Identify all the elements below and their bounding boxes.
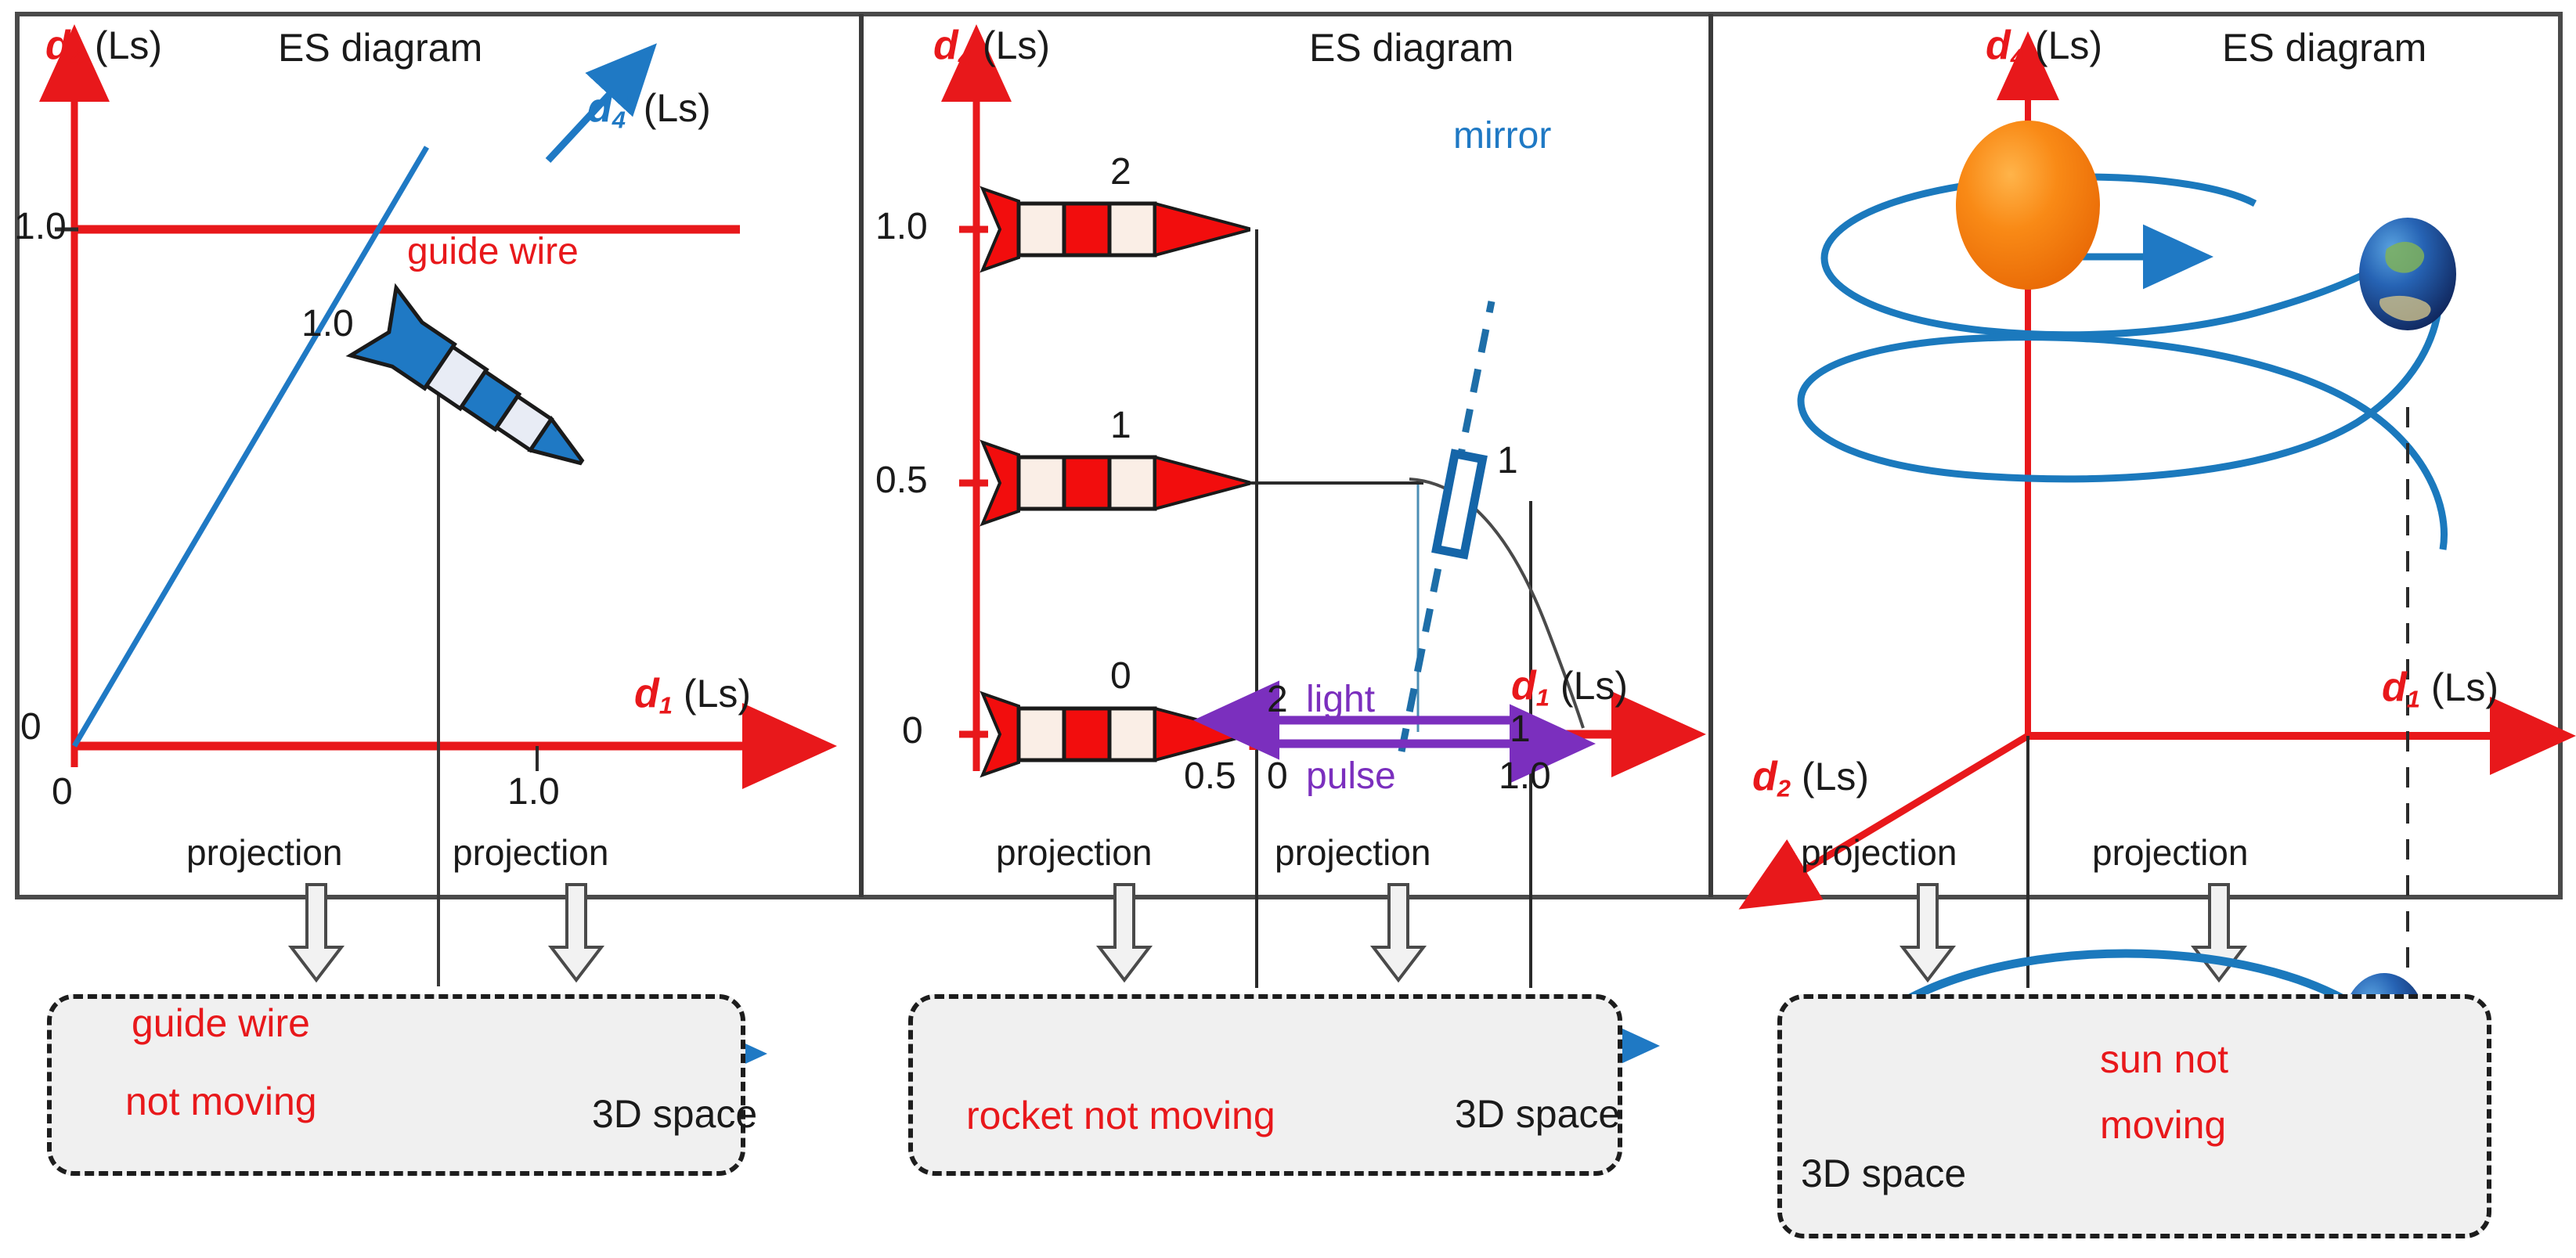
figure-root: d4 (Ls) ES diagram d4' (Ls) 1.0 guide wi… — [0, 0, 2576, 1258]
panel2-ytick-1: 1.0 — [875, 208, 928, 246]
panel3-y-axis-label: d4 (Ls) — [1986, 25, 2102, 70]
panel2-pulse-label: pulse — [1306, 758, 1396, 795]
panel1-guide-wire-label: guide wire — [407, 233, 579, 271]
panel2-pulse-count: 0 — [1267, 758, 1288, 795]
callout3-line2: moving — [2100, 1105, 2226, 1144]
panel2-x-axis-label: d1 (Ls) — [1511, 665, 1628, 710]
panel2-rocket-count-1: 1 — [1110, 407, 1131, 445]
panel3-z-axis-label: d2 (Ls) — [1752, 756, 1869, 801]
panel2-title: ES diagram — [1309, 28, 1513, 67]
panel2-rocket-count-0: 0 — [1110, 658, 1131, 695]
panel1-ytick-0: 0 — [20, 708, 41, 746]
panel1-rocket-tick-label: 1.0 — [301, 305, 354, 343]
panel2-light-label: light — [1306, 681, 1375, 719]
callout2-space-label: 3D space — [1455, 1094, 1620, 1134]
panel2-projection-right: projection — [1275, 834, 1431, 871]
panel1-xtick-1: 1.0 — [507, 773, 560, 811]
panel2-mirror-label: mirror — [1453, 117, 1551, 155]
rocket-2 — [983, 189, 1249, 270]
panel1-projection-left: projection — [186, 834, 342, 871]
panel2-ytick-0: 0 — [902, 712, 923, 750]
callout3-space-label: 3D space — [1801, 1154, 1966, 1193]
callout1-line2: not moving — [125, 1082, 317, 1121]
panel2-ytick-half: 0.5 — [875, 462, 928, 499]
panel2-xtick-half: 0.5 — [1184, 758, 1236, 795]
panel1-y-axis-label: d4 (Ls) — [45, 25, 162, 70]
panel2-light-count: 2 — [1267, 681, 1288, 719]
panel3-title: ES diagram — [2222, 28, 2426, 67]
panel2-projection-left: projection — [996, 834, 1152, 871]
panel3-projection-right: projection — [2092, 834, 2248, 871]
panel1-prime-axis-label: d4' (Ls) — [587, 88, 711, 132]
callout2-line1: rocket not moving — [966, 1096, 1275, 1135]
panel1-ytick-1: 1.0 — [14, 208, 67, 246]
panel1-projection-right: projection — [453, 834, 608, 871]
panel2-mirror-count: 1 — [1497, 442, 1518, 480]
panel3-x-axis-label: d1 (Ls) — [2382, 667, 2498, 712]
panel3-projection-left: projection — [1801, 834, 1957, 871]
panel2-xtick-1short: 1 — [1510, 711, 1531, 748]
panel2-rocket-count-2: 2 — [1110, 153, 1131, 191]
panel2-y-axis-label: d4 (Ls) — [933, 25, 1050, 70]
panel1-graphics — [55, 85, 759, 986]
panel2-xtick-1: 1.0 — [1499, 758, 1551, 795]
callout1-space-label: 3D space — [592, 1094, 757, 1134]
callout3-line1: sun not — [2100, 1040, 2228, 1079]
panel1-x-axis-label: d1 (Ls) — [634, 673, 751, 718]
callout-box-2 — [908, 994, 1622, 1176]
panel1-title: ES diagram — [278, 28, 482, 67]
rocket-1 — [983, 442, 1249, 524]
panel1-xtick-0: 0 — [52, 773, 73, 811]
callout1-line1: guide wire — [132, 1004, 310, 1043]
